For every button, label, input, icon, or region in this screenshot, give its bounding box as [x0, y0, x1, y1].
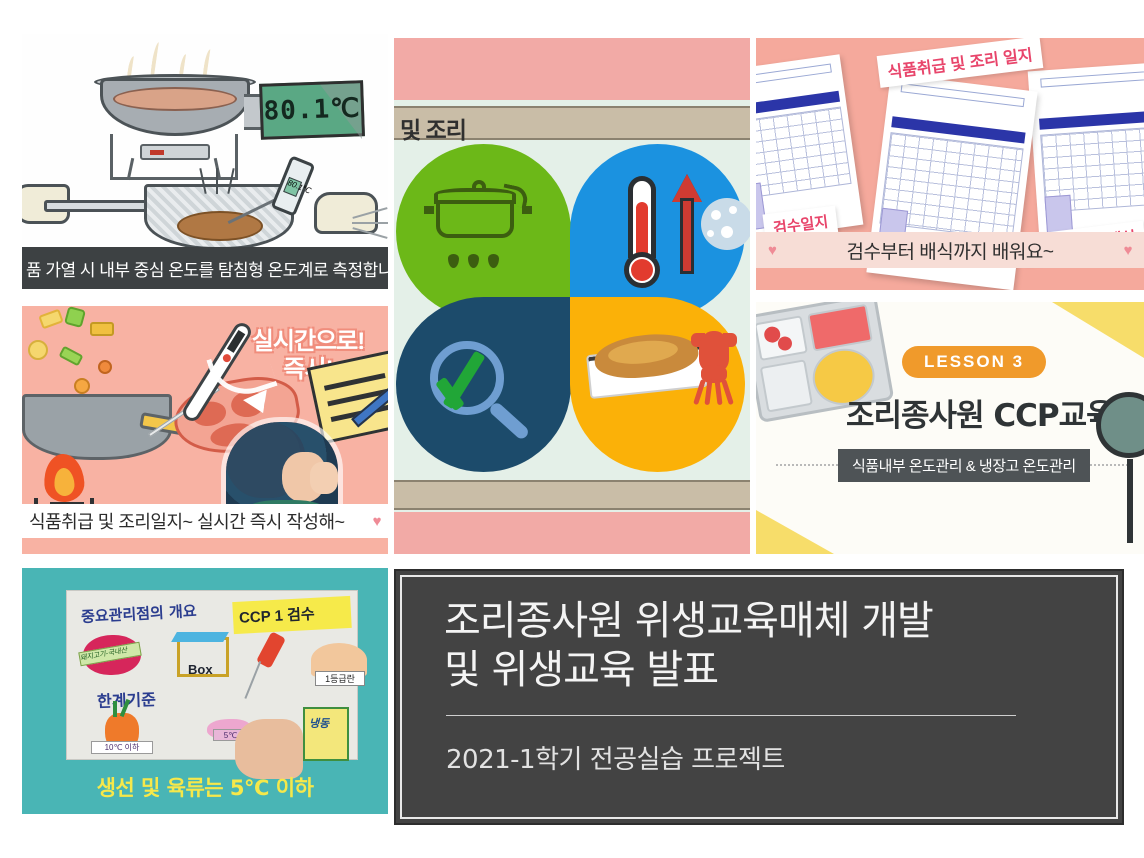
cooking-scene: 80.1℃ 80.1℃ — [22, 34, 388, 245]
title-line-1: 조리종사원 위생교육매체 개발 — [444, 597, 1082, 646]
carrot-temp-tag: 10℃ 이하 — [91, 741, 153, 754]
temperature-display-value: 80.1℃ — [263, 93, 361, 126]
vegetable-icon — [64, 306, 86, 328]
lesson-subtitle-row: 식품내부 온도관리 & 냉장고 온도관리 — [776, 450, 1132, 480]
soup-surface — [113, 87, 237, 111]
vegetable-icon — [28, 340, 48, 360]
title-divider — [446, 715, 1016, 716]
title-line-2: 및 위생교육 발표 — [444, 646, 1082, 695]
bubble-line-1: 실시간으로! — [234, 328, 382, 356]
pot-icon — [430, 184, 526, 254]
vegetable-icon — [98, 360, 112, 374]
card-ccp-board: 중요관리점의 개요 CCP 1 검수 돼지고기-국내산 Box 1등급란 한계기… — [22, 568, 388, 814]
lesson-badge: LESSON 3 — [902, 346, 1046, 378]
pink-band-top — [394, 38, 750, 100]
quadrant-cooking-pot — [396, 144, 571, 319]
realtime-caption-bar: 식품취급 및 조리일지~ 실시간 즉시 작성해~ ♥ — [22, 504, 388, 538]
board-caption: 생선 및 육류는 5℃ 이하 — [22, 772, 388, 802]
meat-drawing-icon: 돼지고기-국내산 — [83, 635, 141, 675]
title-panel: 조리종사원 위생교육매체 개발 및 위생교육 발표 2021-1학기 전공실습 … — [394, 569, 1124, 825]
egg-grade-tag: 1등급란 — [315, 671, 365, 686]
center-band-text: 및 조리 — [400, 111, 466, 145]
vegetable-icon — [74, 378, 90, 394]
beige-title-band: 및 조리 — [394, 106, 750, 140]
card-documents: 식품취급 및 조리 일지 검수일지 조리완료 및 배식 ♥ 검수부터 배식까지 … — [756, 38, 1144, 290]
basket-handle — [44, 200, 150, 212]
patty-icon — [177, 211, 263, 241]
box-drawing-icon: Box — [177, 637, 229, 677]
hand-photo — [235, 719, 303, 779]
heart-icon-right: ♥ — [1124, 242, 1132, 259]
up-arrow-icon — [674, 174, 700, 276]
documents-caption-bar: ♥ 검수부터 배식까지 배워요~ ♥ — [756, 232, 1144, 268]
motion-lines-icon — [352, 210, 388, 240]
vegetable-icon — [38, 309, 63, 330]
card-lesson-3: LESSON 3 조리종사원 CCP교육 식품내부 온도관리 & 냉장고 온도관… — [756, 302, 1144, 554]
slide-canvas: 80.1℃ 80.1℃ 품 가열 시 내부 중심 온도를 탐침형 온도계로 측정… — [0, 0, 1144, 858]
dotted-rule-left — [776, 464, 838, 466]
virus-icon — [701, 198, 750, 250]
vegetable-icon — [90, 322, 114, 336]
pink-band-bottom — [394, 512, 750, 554]
hand — [310, 462, 338, 494]
temperature-readout-icon: 80.1℃ — [259, 80, 365, 140]
page-subtitle: 2021-1학기 전공실습 프로젝트 — [446, 739, 785, 776]
burner-icon — [140, 144, 210, 160]
box-label: Box — [188, 662, 213, 677]
realtime-caption-text: 식품취급 및 조리일지~ 실시간 즉시 작성해~ — [29, 508, 345, 534]
yellow-triangle-bottom-left — [756, 510, 834, 554]
heat-lines-icon — [198, 168, 238, 194]
soup-pot-icon — [100, 78, 250, 136]
pinwheel-diagram — [394, 142, 750, 478]
probe-screen: 80.1℃ — [283, 177, 302, 197]
lesson-subtitle: 식품내부 온도관리 & 냉장고 온도관리 — [838, 449, 1090, 482]
frozen-pack-icon: 냉동 — [303, 707, 349, 761]
board-photo: 중요관리점의 개요 CCP 1 검수 돼지고기-국내산 Box 1등급란 한계기… — [66, 590, 358, 760]
cooking-caption: 품 가열 시 내부 중심 온도를 탐침형 온도계로 측정합니다. — [22, 247, 388, 289]
heart-icon: ♥ — [373, 513, 381, 530]
thermometer-icon — [624, 176, 662, 288]
card-haccp-pinwheel: 및 조리 — [394, 38, 750, 554]
page-title: 조리종사원 위생교육매체 개발 및 위생교육 발표 — [444, 597, 1082, 695]
ccp-tag-text: CCP 1 검수 — [238, 603, 315, 628]
vegetable-icon — [58, 346, 83, 367]
probe-drawing-icon — [256, 631, 286, 669]
meat-tag-label: 돼지고기-국내산 — [78, 642, 141, 667]
quadrant-food — [570, 297, 745, 472]
flame-icon — [42, 453, 85, 504]
yellow-triangle-top-right — [1052, 302, 1144, 358]
dotted-rule-right — [1090, 464, 1132, 466]
quadrant-inspection — [396, 297, 571, 472]
card-cooking-illustration: 80.1℃ 80.1℃ 품 가열 시 내부 중심 온도를 탐침형 온도계로 측정… — [22, 34, 388, 289]
heart-icon-left: ♥ — [768, 242, 776, 259]
documents-caption-text: 검수부터 배식까지 배워요~ — [776, 237, 1123, 264]
frozen-label: 냉동 — [309, 715, 329, 731]
board-heading: 중요관리점의 개요 — [81, 600, 198, 627]
magnifier-check-icon — [430, 337, 540, 437]
label-cooking-journal: 식품취급 및 조리 일지 — [877, 38, 1044, 88]
squid-icon — [691, 331, 737, 405]
ccp-highlight-tag: CCP 1 검수 — [232, 596, 352, 634]
card-realtime-logging: 실시간으로! 즉시! FiRE 식품취급 및 조리일지~ 실시간 즉시 작성해~… — [22, 306, 388, 554]
beige-band-bottom — [394, 480, 750, 510]
quadrant-temperature — [570, 144, 745, 319]
